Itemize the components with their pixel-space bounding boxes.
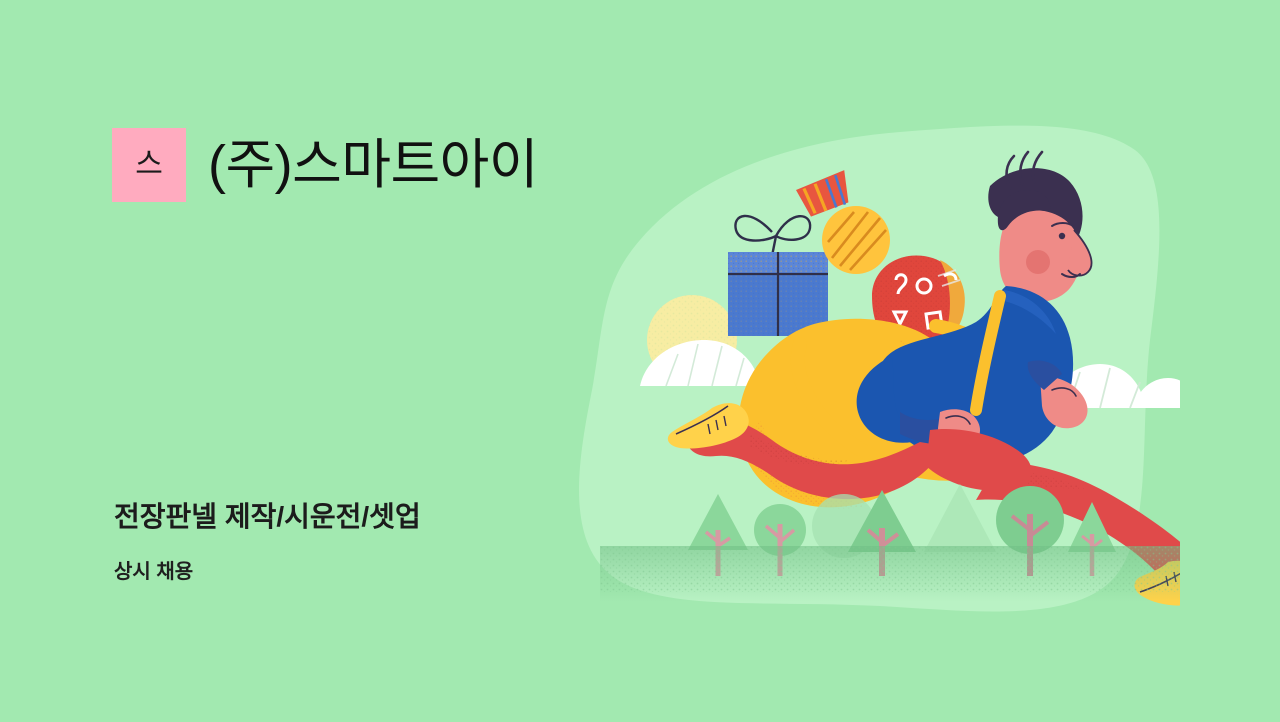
- speckled-ground: [600, 546, 1180, 602]
- blue-shirt: [876, 286, 1073, 464]
- company-logo-badge: 스: [112, 128, 186, 202]
- striped-fan-icon: [795, 170, 855, 218]
- sack-strap: [798, 326, 1026, 474]
- hair-back: [988, 152, 1082, 244]
- yellow-sneaker-back: [668, 403, 749, 448]
- running-man-illustration: [600, 90, 1180, 620]
- head: [998, 190, 1092, 302]
- logo-glyph: 스: [135, 150, 163, 180]
- company-header: 스 (주)스마트아이: [112, 128, 538, 202]
- company-name: (주)스마트아이: [208, 137, 538, 194]
- red-pants: [686, 416, 1180, 592]
- front-arm: [857, 356, 980, 448]
- yellow-striped-ball-icon: [822, 206, 890, 274]
- strap-front: [976, 296, 1000, 410]
- red-patterned-ball-icon: [872, 255, 965, 350]
- job-title: 전장판넬 제작/시운전/셋업: [114, 500, 421, 534]
- white-hills-right: [918, 342, 1180, 408]
- sun-icon: [647, 295, 737, 385]
- gift-box-icon: [728, 216, 828, 336]
- employment-type: 상시 채용: [114, 560, 421, 584]
- job-info: 전장판넬 제작/시운전/셋업 상시 채용: [114, 500, 421, 584]
- tree-row: [688, 484, 1116, 576]
- back-arm: [1028, 361, 1088, 429]
- yellow-sack: [739, 319, 958, 509]
- yellow-sneaker-front: [1135, 561, 1181, 606]
- job-posting-card: 스 (주)스마트아이 전장판넬 제작/시운전/셋업 상시 채용: [0, 0, 1280, 722]
- background-blob: [0, 0, 1280, 722]
- white-hills-left: [640, 340, 879, 386]
